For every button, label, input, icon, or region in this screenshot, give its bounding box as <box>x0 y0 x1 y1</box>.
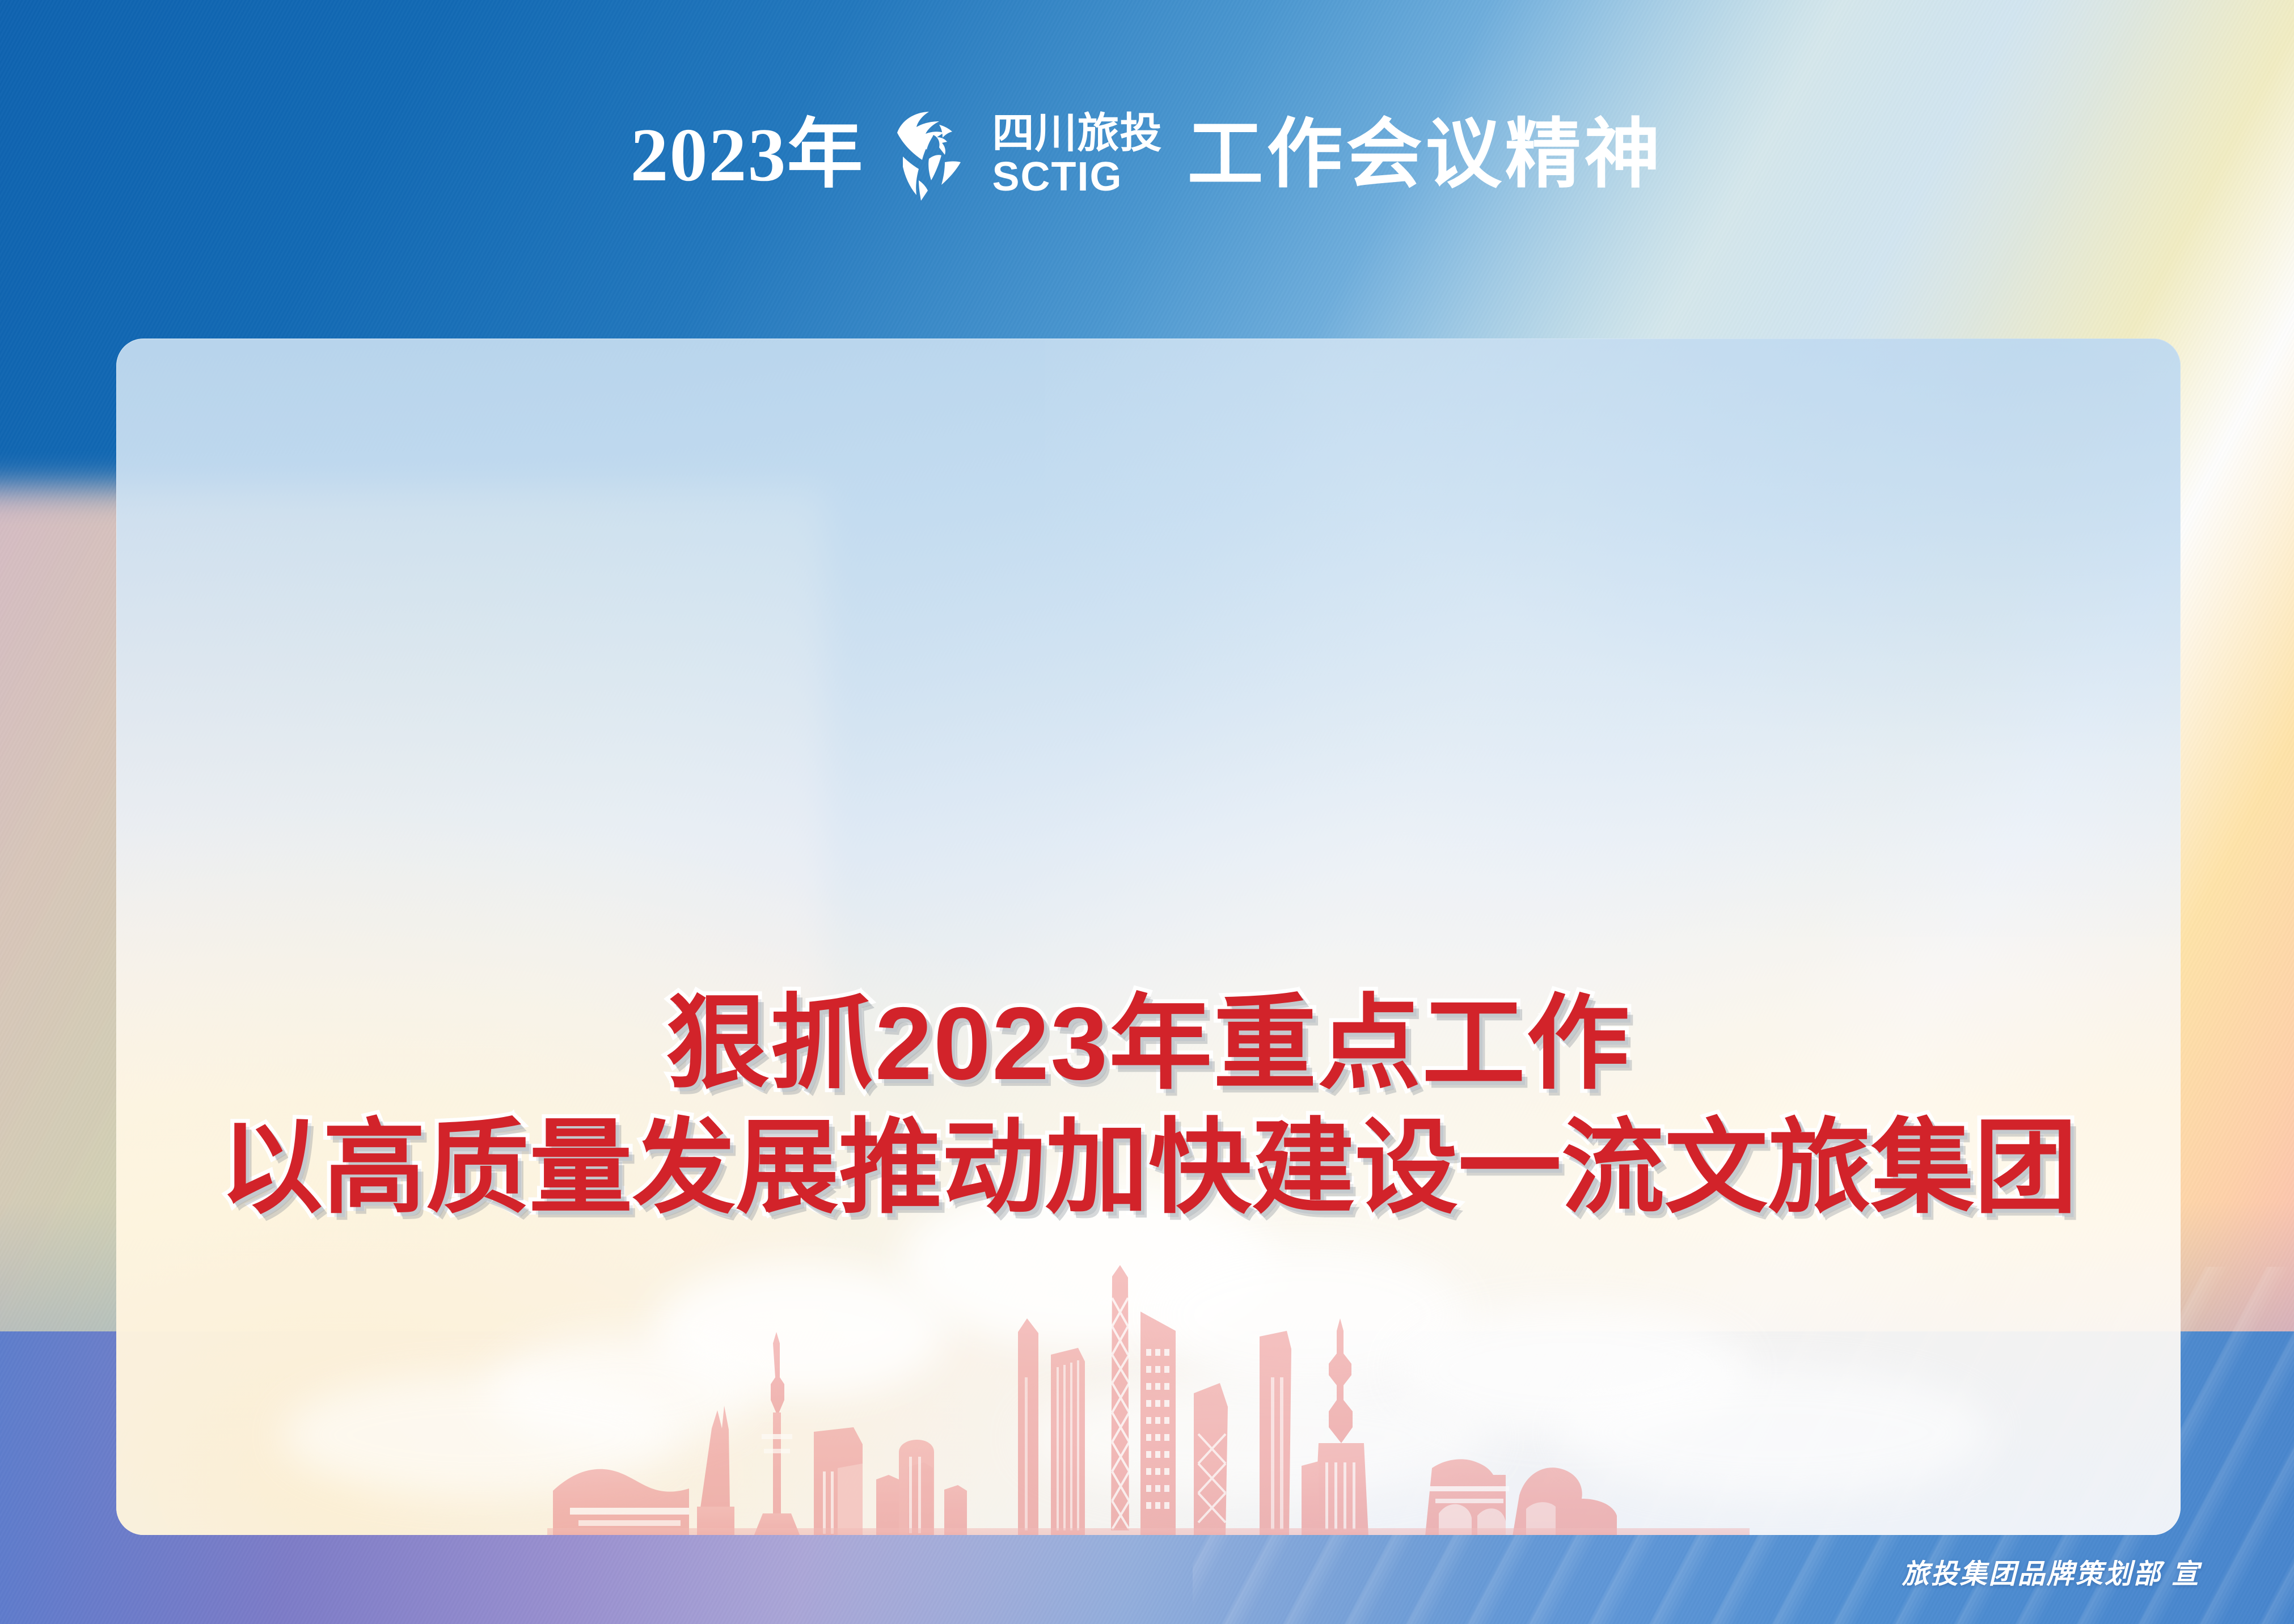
logo-name-en: SCTIG <box>992 157 1123 197</box>
sctig-logo-lockup: 四川旅投 SCTIG <box>889 108 1163 202</box>
header-year-label: 2023年 <box>630 117 864 193</box>
footer-credit: 旅投集团品牌策划部 宣 <box>1902 1551 2200 1591</box>
poster-header: 2023年 四川旅投 SCTIG <box>0 99 2294 210</box>
header-subject-label: 工作会议精神 <box>1188 117 1664 193</box>
main-title: 狠抓2023年重点工作 以高质量发展推动加快建设一流文旅集团 <box>116 988 2181 1223</box>
globe-logo-icon <box>889 108 980 202</box>
sctig-logo-text: 四川旅投 SCTIG <box>992 112 1163 197</box>
poster-canvas: 2023年 四川旅投 SCTIG <box>0 0 2294 1624</box>
title-line-2: 以高质量发展推动加快建设一流文旅集团 <box>219 1112 2077 1224</box>
title-line-1: 狠抓2023年重点工作 <box>666 988 1631 1099</box>
logo-name-cn: 四川旅投 <box>992 112 1163 154</box>
content-panel: 狠抓2023年重点工作 以高质量发展推动加快建设一流文旅集团 <box>116 339 2181 1535</box>
